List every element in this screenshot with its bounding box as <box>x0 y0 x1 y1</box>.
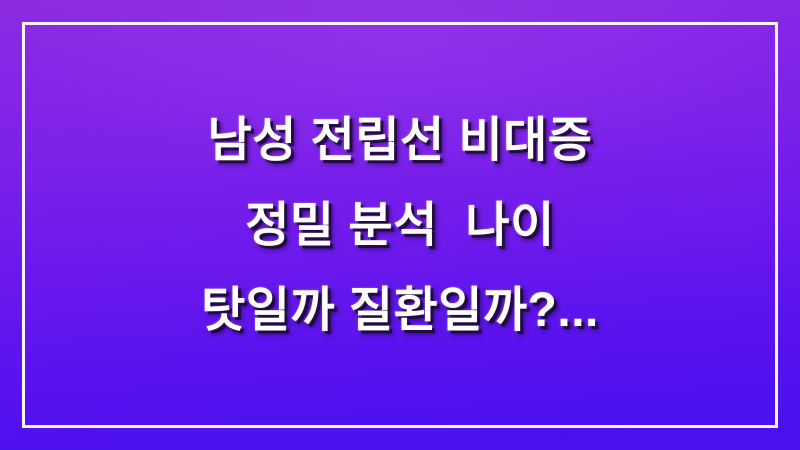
headline-line-2: 정밀 분석 나이 <box>48 183 752 268</box>
headline-line-1: 남성 전립선 비대증 <box>48 98 752 183</box>
title-card: 남성 전립선 비대증 정밀 분석 나이 탓일까 질환일까?... <box>0 0 800 450</box>
headline-block: 남성 전립선 비대증 정밀 분석 나이 탓일까 질환일까?... <box>0 0 800 450</box>
headline-line-3: 탓일까 질환일까?... <box>48 268 752 353</box>
